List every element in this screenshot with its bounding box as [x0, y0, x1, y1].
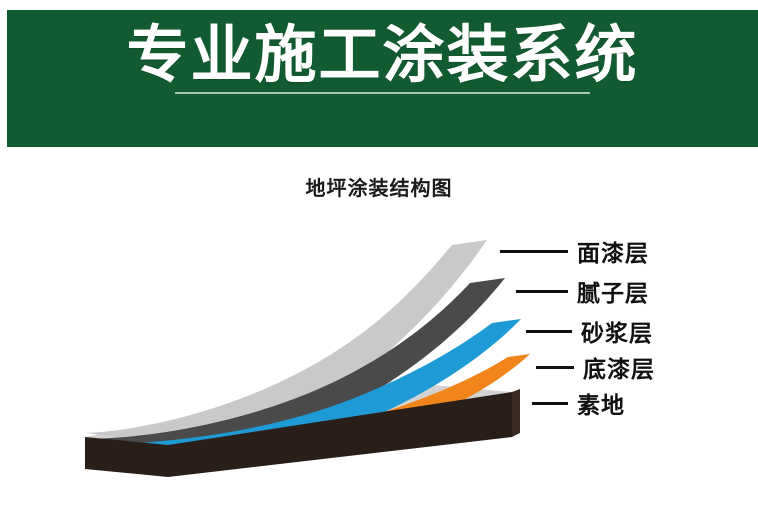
legend: 面漆层 腻子层 砂浆层 底漆层 素地 [495, 228, 755, 428]
legend-leader-line-topcoat [500, 250, 568, 253]
legend-item-mortar[interactable]: 砂浆层 [526, 314, 653, 348]
legend-leader-line-substrate [532, 402, 568, 405]
legend-label-primer: 底漆层 [583, 350, 655, 384]
legend-item-primer[interactable]: 底漆层 [536, 350, 655, 384]
legend-leader-line-primer [536, 366, 574, 369]
legend-item-topcoat[interactable]: 面漆层 [500, 234, 649, 268]
legend-label-putty: 腻子层 [577, 274, 649, 308]
legend-item-substrate[interactable]: 素地 [532, 386, 625, 420]
legend-label-topcoat: 面漆层 [577, 234, 649, 268]
legend-item-putty[interactable]: 腻子层 [516, 274, 649, 308]
header-banner: 专业施工涂装系统 [7, 10, 758, 147]
title-underline [175, 92, 590, 94]
page-title: 专业施工涂装系统 [126, 24, 638, 86]
legend-leader-line-mortar [526, 330, 572, 333]
legend-label-substrate: 素地 [577, 386, 625, 420]
diagram-subtitle: 地坪涂装结构图 [0, 172, 758, 201]
legend-leader-line-putty [516, 290, 568, 293]
legend-label-mortar: 砂浆层 [581, 314, 653, 348]
